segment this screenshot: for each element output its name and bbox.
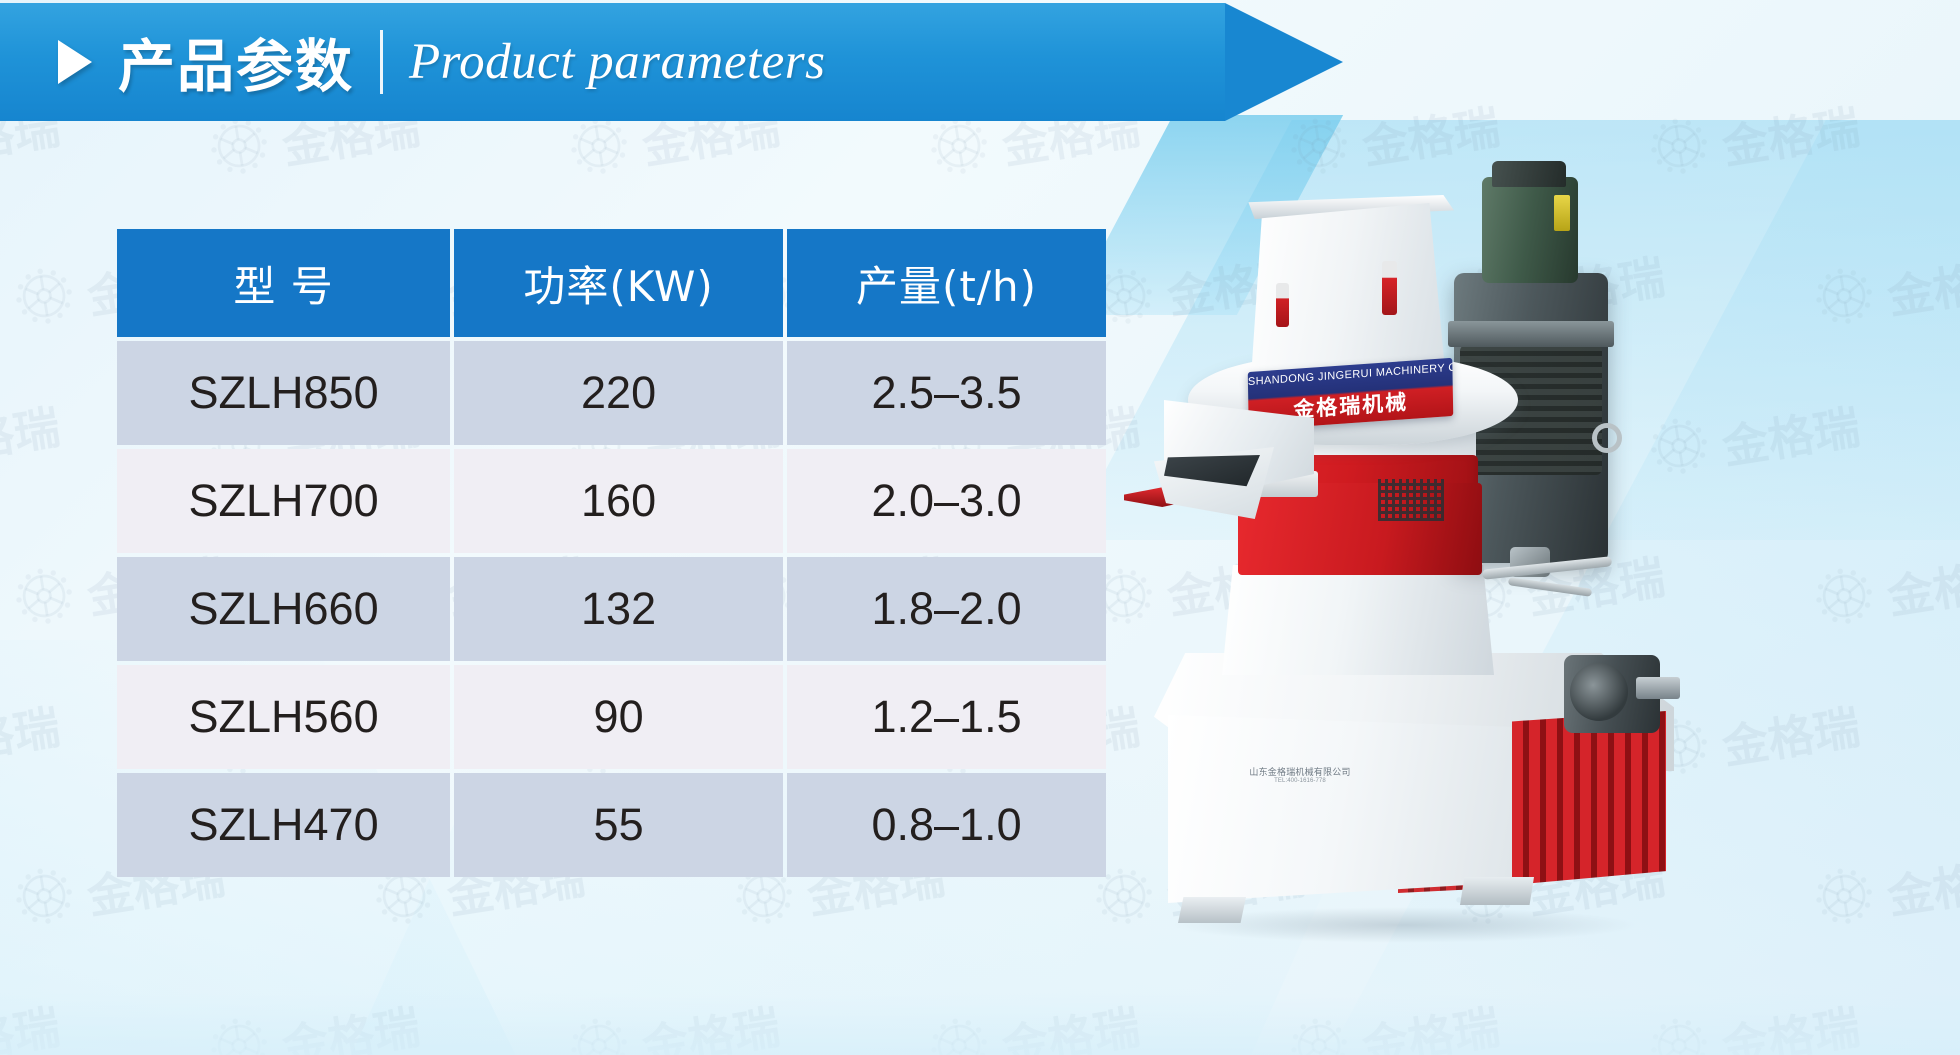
watermark-text: 金格瑞 [0, 390, 64, 477]
banner-title-en: Product parameters [409, 33, 825, 91]
machine-side-motor-fan [1570, 663, 1628, 721]
machine-base-logo: 山东金格瑞机械有限公司 TEL:400-1616-778 [1240, 765, 1360, 819]
cell-output: 2.5–3.5 [787, 341, 1106, 445]
cell-model: SZLH850 [117, 341, 450, 445]
gear-logo-icon [11, 863, 79, 940]
table-row: SZLH850 220 2.5–3.5 [117, 341, 1106, 445]
machine-pipe-lower [1508, 577, 1592, 597]
watermark-tile: 金格瑞 [1811, 839, 1960, 940]
table-body: SZLH850 220 2.5–3.5 SZLH700 160 2.0–3.0 … [117, 341, 1106, 877]
column-header-output: 产量(t/h) [787, 229, 1106, 337]
machine-lifting-eye [1592, 423, 1622, 453]
machine-foot-right [1460, 877, 1534, 905]
machine-base-logo-cn: 山东金格瑞机械有限公司 [1240, 765, 1360, 778]
cell-output: 2.0–3.0 [787, 449, 1106, 553]
table-header-row: 型 号 功率(KW) 产量(t/h) [117, 229, 1106, 337]
table-row: SZLH660 132 1.8–2.0 [117, 557, 1106, 661]
machine-gearbox-cap [1492, 161, 1566, 187]
machine-feeder-latch-right [1382, 261, 1397, 315]
column-header-power: 功率(KW) [454, 229, 783, 337]
machine-vent-grill [1378, 479, 1444, 521]
machine-foot-left [1178, 897, 1246, 923]
gear-logo-icon [11, 563, 79, 640]
cell-power: 132 [454, 557, 783, 661]
gear-logo-icon [566, 113, 634, 190]
pellet-mill-machine-photo: 山东金格瑞机械有限公司 TEL:400-1616-778 SHANDONG JI… [1130, 155, 1820, 1025]
banner-divider [380, 30, 383, 94]
watermark-tile: 金格瑞 [0, 389, 64, 490]
table-header: 型 号 功率(KW) 产量(t/h) [117, 229, 1106, 337]
gear-logo-icon [1811, 563, 1879, 640]
table-row: SZLH700 160 2.0–3.0 [117, 449, 1106, 553]
cell-model: SZLH660 [117, 557, 450, 661]
watermark-text: 金格瑞 [1882, 840, 1960, 927]
cell-power: 220 [454, 341, 783, 445]
triangle-right-icon [58, 40, 92, 84]
machine-base-logo-en: TEL:400-1616-778 [1240, 778, 1360, 784]
gear-logo-icon [926, 113, 994, 190]
cell-power: 55 [454, 773, 783, 877]
cell-output: 0.8–1.0 [787, 773, 1106, 877]
gear-logo-icon [206, 113, 274, 190]
watermark-tile: 金格瑞 [1811, 239, 1960, 340]
watermark-text: 金格瑞 [1882, 240, 1960, 327]
column-header-model: 型 号 [117, 229, 450, 337]
gear-logo-icon [11, 263, 79, 340]
cell-model: SZLH470 [117, 773, 450, 877]
gear-logo-icon [1811, 263, 1879, 340]
cell-power: 90 [454, 665, 783, 769]
machine-side-motor-bracket [1636, 677, 1680, 699]
machine-body-skirt [1222, 565, 1494, 675]
machine-motor-band [1448, 321, 1614, 347]
watermark-text: 金格瑞 [1882, 540, 1960, 627]
cell-output: 1.2–1.5 [787, 665, 1106, 769]
product-parameters-table: 型 号 功率(KW) 产量(t/h) SZLH850 220 2.5–3.5 S… [113, 225, 1110, 881]
banner-title-cn: 产品参数 [118, 21, 354, 103]
gear-logo-icon [1811, 863, 1879, 940]
cell-model: SZLH700 [117, 449, 450, 553]
cell-model: SZLH560 [117, 665, 450, 769]
table-row: SZLH560 90 1.2–1.5 [117, 665, 1106, 769]
product-parameters-page: 金格瑞金格瑞金格瑞金格瑞金格瑞金格瑞金格瑞金格瑞金格瑞金格瑞金格瑞金格瑞金格瑞金… [0, 0, 1960, 1055]
cell-power: 160 [454, 449, 783, 553]
section-header-banner: 产品参数 Product parameters [0, 3, 1225, 121]
table-row: SZLH470 55 0.8–1.0 [117, 773, 1106, 877]
watermark-tile: 金格瑞 [0, 689, 64, 790]
watermark-tile: 金格瑞 [1811, 539, 1960, 640]
machine-red-fins [1512, 711, 1666, 885]
watermark-text: 金格瑞 [0, 690, 64, 777]
cell-output: 1.8–2.0 [787, 557, 1106, 661]
machine-feeder-latch-left [1276, 283, 1289, 327]
machine-gearbox-tag [1554, 195, 1570, 231]
